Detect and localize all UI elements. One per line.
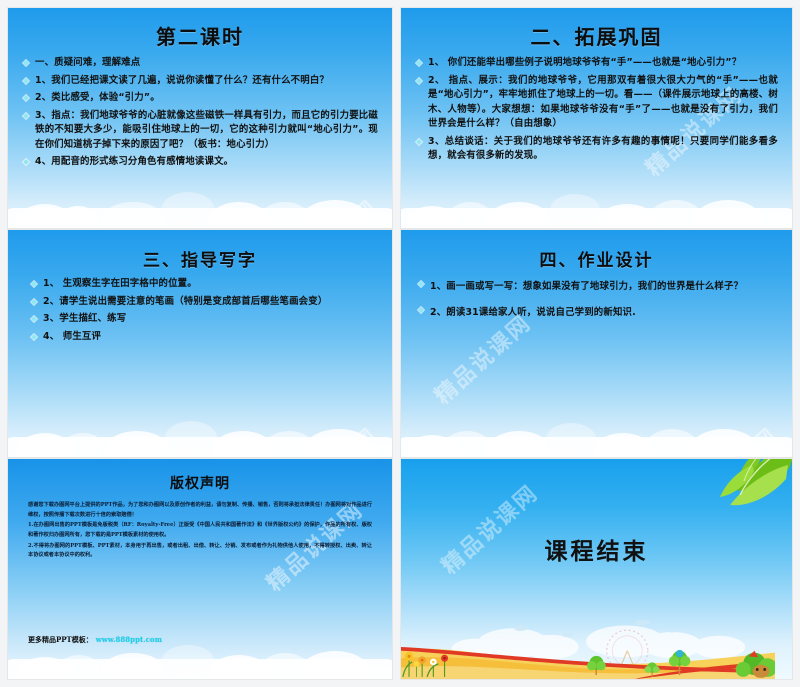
copyright-text: 感谢您下载办图网平台上提供的PPT作品，为了您和办图网以及原创作者的利益，请勿复… — [8, 501, 392, 561]
list-item: 3、总结谈话：关于我们的地球爷爷还有许多有趣的事情呢！只要同学们能多看多想，就会… — [415, 135, 778, 164]
list-item: 4、用配音的形式练习分角色有感情地读课文。 — [22, 155, 378, 170]
list-item-text: 1、 生观察生字在田字格中的位置。 — [43, 277, 370, 292]
list-item: 4、 师生互评 — [30, 330, 370, 345]
footer-credit: 更多精品PPT模板： www.888ppt.com — [28, 635, 162, 645]
slide-writing[interactable]: 精品说课网 三、指导写字 1、 生观察生字在田字格中的位置。 2、请学生说出需要… — [8, 230, 392, 457]
slide-grid: 精品说课网 第二课时 一、质疑问难，理解难点 1、我们已经把课文读了几遍，说说你… — [0, 0, 800, 687]
diamond-bullet-icon — [30, 333, 39, 342]
slide-homework[interactable]: 精品说课网 精品说课网 四、作业设计 1、画一画或写一写：想象如果没有了地球引力… — [401, 230, 792, 457]
slide-cell-1: 精品说课网 第二课时 一、质疑问难，理解难点 1、我们已经把课文读了几遍，说说你… — [0, 0, 400, 229]
diamond-bullet-icon — [415, 77, 424, 86]
list-item: 1、 你们还能举出哪些例子说明地球爷爷有“手”——也就是“地心引力”？ — [415, 56, 778, 71]
page-title: 版权声明 — [8, 473, 392, 493]
list-item-text: 4、 师生互评 — [43, 330, 370, 345]
page-title: 四、作业设计 — [401, 246, 792, 271]
slide-final[interactable]: 精品说课网 课程结束 — [401, 459, 792, 679]
slide-extend[interactable]: 精品说课网 二、拓展巩固 1、 你们还能举出哪些例子说明地球爷爷有“手”——也就… — [401, 8, 792, 228]
page-title: 第二课时 — [8, 21, 392, 50]
list-item: 1、画一画或写一写：想象如果没有了地球引力，我们的世界是什么样子？ — [417, 277, 776, 297]
list-item: 一、质疑问难，理解难点 — [22, 56, 378, 71]
list-item: 2、朗读31课给家人听，说说自己学到的新知识. — [417, 303, 776, 323]
content-list: 1、画一画或写一写：想象如果没有了地球引力，我们的世界是什么样子？ 2、朗读31… — [401, 277, 792, 323]
copyright-paragraph: 感谢您下载办图网平台上提供的PPT作品，为了您和办图网以及原创作者的利益，请勿复… — [28, 501, 372, 520]
list-item: 2、 指点、展示：我们的地球爷爷，它用那双有着很大很大力气的“手”——也就是“地… — [415, 74, 778, 132]
slide-cell-5: 精品说课网 版权声明 感谢您下载办图网平台上提供的PPT作品，为了您和办图网以及… — [0, 458, 400, 687]
list-item-text: 一、质疑问难，理解难点 — [35, 56, 378, 71]
list-item: 3、指点：我们地球爷爷的心脏就像这些磁铁一样具有引力，而且它的引力要比磁铁的不知… — [22, 109, 378, 153]
list-item-text: 2、类比感受，体验“引力”。 — [35, 91, 378, 106]
content-list: 一、质疑问难，理解难点 1、我们已经把课文读了几遍，说说你读懂了什么？还有什么不… — [8, 56, 392, 170]
slide-cell-3: 精品说课网 三、指导写字 1、 生观察生字在田字格中的位置。 2、请学生说出需要… — [0, 229, 400, 458]
watermark: 精品说课网 — [674, 420, 785, 457]
cloud-decoration — [8, 353, 392, 457]
copyright-paragraph: 2.不得将办图网的PPT模板、PPT素材，本身用于再出售，或者出租、出借、转让、… — [28, 542, 372, 561]
leaf-decoration-icon — [666, 459, 792, 519]
diamond-bullet-icon — [22, 94, 31, 103]
diamond-bullet-icon — [22, 158, 31, 167]
website-link[interactable]: www.888ppt.com — [96, 635, 162, 644]
diamond-bullet-icon — [22, 77, 31, 86]
watermark: 精品说课网 — [274, 420, 385, 457]
page-title: 三、指导写字 — [8, 246, 392, 271]
list-item-text: 1、 你们还能举出哪些例子说明地球爷爷有“手”——也就是“地心引力”？ — [428, 56, 778, 71]
landscape-illustration — [401, 604, 775, 679]
list-item-text: 3、总结谈话：关于我们的地球爷爷还有许多有趣的事情呢！只要同学们能多看多想，就会… — [428, 135, 778, 164]
slide-copyright[interactable]: 精品说课网 版权声明 感谢您下载办图网平台上提供的PPT作品，为了您和办图网以及… — [8, 459, 392, 679]
diamond-bullet-icon — [30, 298, 39, 307]
slide-cell-2: 精品说课网 二、拓展巩固 1、 你们还能举出哪些例子说明地球爷爷有“手”——也就… — [400, 0, 800, 229]
list-item-text: 3、学生描红、练写 — [43, 312, 370, 327]
cloud-decoration — [8, 578, 392, 679]
list-item-text: 4、用配音的形式练习分角色有感情地读课文。 — [35, 155, 378, 170]
watermark: 精品说课网 — [274, 191, 385, 228]
diamond-bullet-icon — [22, 112, 31, 121]
list-item-text: 2、朗读31课给家人听，说说自己学到的新知识. — [430, 303, 776, 323]
diamond-bullet-icon — [415, 59, 424, 68]
cloud-decoration — [401, 353, 792, 457]
diamond-bullet-icon — [30, 315, 39, 324]
footer-label: 更多精品PPT模板： — [28, 635, 93, 645]
diamond-bullet-icon — [30, 280, 39, 289]
list-item-text: 1、画一画或写一写：想象如果没有了地球引力，我们的世界是什么样子？ — [430, 277, 776, 297]
diamond-bullet-icon — [417, 306, 426, 315]
list-item: 1、我们已经把课文读了几遍，说说你读懂了什么？还有什么不明白？ — [22, 74, 378, 89]
list-item: 3、学生描红、练写 — [30, 312, 370, 327]
copyright-paragraph: 1.在办图网出售的PPT模板是免版税类（RF：Royalty-Free）正版受《… — [28, 521, 372, 540]
list-item: 2、类比感受，体验“引力”。 — [22, 91, 378, 106]
content-list: 1、 生观察生字在田字格中的位置。 2、请学生说出需要注意的笔画（特别是变成部首… — [8, 277, 392, 344]
list-item: 2、请学生说出需要注意的笔画（特别是变成部首后哪些笔画会变） — [30, 295, 370, 310]
slide-lesson2[interactable]: 精品说课网 第二课时 一、质疑问难，理解难点 1、我们已经把课文读了几遍，说说你… — [8, 8, 392, 228]
diamond-bullet-icon — [417, 280, 426, 289]
slide-cell-4: 精品说课网 精品说课网 四、作业设计 1、画一画或写一写：想象如果没有了地球引力… — [400, 229, 800, 458]
list-item-text: 2、 指点、展示：我们的地球爷爷，它用那双有着很大很大力气的“手”——也就是“地… — [428, 74, 778, 132]
diamond-bullet-icon — [22, 59, 31, 68]
page-title: 课程结束 — [401, 532, 792, 566]
list-item-text: 1、我们已经把课文读了几遍，说说你读懂了什么？还有什么不明白？ — [35, 74, 378, 89]
list-item: 1、 生观察生字在田字格中的位置。 — [30, 277, 370, 292]
list-item-text: 3、指点：我们地球爷爷的心脏就像这些磁铁一样具有引力，而且它的引力要比磁铁的不知… — [35, 109, 378, 153]
slide-cell-6: 精品说课网 课程结束 — [400, 458, 800, 687]
list-item-text: 2、请学生说出需要注意的笔画（特别是变成部首后哪些笔画会变） — [43, 295, 370, 310]
diamond-bullet-icon — [415, 138, 424, 147]
page-title: 二、拓展巩固 — [401, 21, 792, 50]
content-list: 1、 你们还能举出哪些例子说明地球爷爷有“手”——也就是“地心引力”？ 2、 指… — [401, 56, 792, 164]
